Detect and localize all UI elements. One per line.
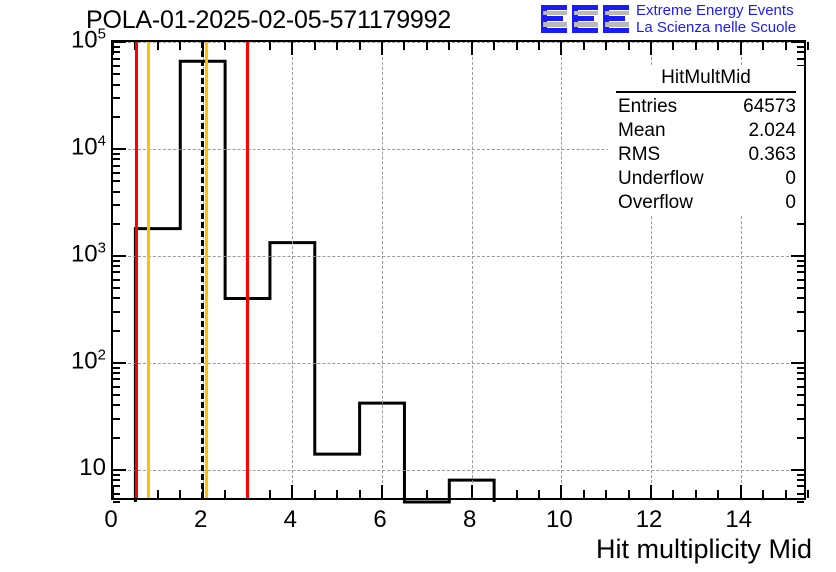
y-axis-minor-tick: [797, 386, 804, 388]
y-axis-minor-tick: [113, 97, 120, 99]
stats-row: Entries64573: [608, 95, 804, 119]
y-axis-minor-tick: [797, 279, 804, 281]
x-axis-minor-tick: [359, 42, 361, 50]
stats-row-key: Entries: [618, 96, 677, 118]
x-axis-tick: [112, 485, 114, 498]
x-axis-minor-tick: [807, 490, 809, 498]
x-axis-minor-tick: [426, 490, 428, 498]
x-axis-minor-tick: [448, 490, 450, 498]
y-axis-tick-label: 104: [71, 132, 106, 161]
x-axis-tick: [381, 42, 383, 55]
y-axis-minor-tick: [797, 404, 804, 406]
x-axis-minor-tick: [224, 490, 226, 498]
y-axis-minor-tick: [113, 271, 120, 273]
x-axis-minor-tick: [628, 490, 630, 498]
x-axis-minor-tick: [157, 42, 159, 50]
x-axis-minor-tick: [762, 42, 764, 50]
y-axis-minor-tick: [113, 265, 120, 267]
x-axis-minor-tick: [493, 42, 495, 50]
grid-line-horizontal: [113, 363, 804, 364]
y-axis-minor-tick: [113, 404, 120, 406]
x-axis-tick-label: 0: [104, 506, 117, 534]
y-axis-tick: [791, 469, 804, 471]
marker-line-orange-high: [205, 42, 208, 498]
y-axis-tick-label: 102: [71, 346, 106, 375]
stats-row-value: 2.024: [748, 120, 796, 142]
x-axis-minor-tick: [403, 490, 405, 498]
stats-row-key: RMS: [618, 144, 660, 166]
x-axis-tick: [291, 485, 293, 498]
y-axis-minor-tick: [797, 493, 804, 495]
x-axis-minor-tick: [224, 42, 226, 50]
x-axis-minor-tick: [605, 42, 607, 50]
y-axis-tick: [791, 362, 804, 364]
y-axis-minor-tick: [797, 265, 804, 267]
logo-line-2: La Scienza nelle Scuole: [636, 19, 796, 36]
stats-row: RMS0.363: [608, 143, 804, 167]
y-axis-tick: [113, 469, 126, 471]
marker-line-red-high: [246, 42, 249, 498]
stats-row: Mean2.024: [608, 119, 804, 143]
eee-logo-mark: [541, 4, 629, 34]
y-axis-minor-tick: [113, 485, 120, 487]
x-axis-tick: [650, 485, 652, 498]
y-axis-minor-tick: [797, 260, 804, 262]
y-axis-minor-tick: [113, 223, 120, 225]
x-axis-tick-label: 14: [725, 506, 752, 534]
y-axis-minor-tick: [797, 418, 804, 420]
y-axis-minor-tick: [797, 297, 804, 299]
marker-line-red-low: [135, 42, 138, 498]
plot-canvas: POLA-01-2025-02-05-571179992: [0, 0, 836, 572]
x-axis-minor-tick: [672, 42, 674, 50]
x-axis-minor-tick: [717, 42, 719, 50]
x-axis-tick: [740, 485, 742, 498]
y-axis-minor-tick: [113, 287, 120, 289]
grid-line-horizontal: [113, 256, 804, 257]
x-axis-minor-tick: [269, 42, 271, 50]
grid-line-vertical: [382, 42, 383, 498]
y-axis-minor-tick: [113, 153, 120, 155]
stats-row-key: Underflow: [618, 168, 704, 190]
y-axis-minor-tick: [113, 479, 120, 481]
y-axis-tick: [791, 41, 804, 43]
grid-line-vertical: [292, 42, 293, 498]
y-axis-minor-tick: [113, 279, 120, 281]
x-axis-tick: [740, 42, 742, 55]
stats-row-value: 0.363: [748, 144, 796, 166]
y-axis-minor-tick: [797, 330, 804, 332]
x-axis-title: Hit multiplicity Mid: [596, 534, 812, 565]
y-axis-tick-label: 103: [71, 239, 106, 268]
y-axis-minor-tick: [113, 260, 120, 262]
y-axis-minor-tick: [797, 51, 804, 53]
eee-logo: Extreme Energy Events La Scienza nelle S…: [541, 2, 833, 38]
x-axis-tick-label: 2: [194, 506, 207, 534]
y-axis-minor-tick: [113, 204, 120, 206]
y-axis-minor-tick: [113, 378, 120, 380]
y-axis-minor-tick: [797, 479, 804, 481]
y-axis-tick: [113, 362, 126, 364]
y-axis-minor-tick: [113, 73, 120, 75]
grid-line-vertical: [472, 42, 473, 498]
x-axis-minor-tick: [314, 490, 316, 498]
x-axis-minor-tick: [516, 490, 518, 498]
y-axis-minor-tick: [797, 394, 804, 396]
y-axis-minor-tick: [113, 165, 120, 167]
y-axis-minor-tick: [797, 378, 804, 380]
y-axis-minor-tick: [113, 493, 120, 495]
x-axis-minor-tick: [157, 490, 159, 498]
stats-row-key: Mean: [618, 120, 666, 142]
x-axis-minor-tick: [269, 490, 271, 498]
x-axis-minor-tick: [672, 490, 674, 498]
x-axis-minor-tick: [359, 490, 361, 498]
x-axis-tick-label: 6: [373, 506, 386, 534]
y-axis-minor-tick: [797, 474, 804, 476]
grid-line-horizontal: [113, 42, 804, 43]
x-axis-minor-tick: [807, 42, 809, 50]
x-axis-minor-tick: [628, 42, 630, 50]
y-axis-minor-tick: [113, 191, 120, 193]
x-axis-tick-label: 12: [636, 506, 663, 534]
x-axis-minor-tick: [605, 490, 607, 498]
x-axis-minor-tick: [426, 42, 428, 50]
y-axis-minor-tick: [113, 116, 120, 118]
stats-title: HitMultMid: [616, 66, 796, 93]
x-axis-minor-tick: [314, 42, 316, 50]
logo-line-1: Extreme Energy Events: [636, 2, 796, 19]
stats-row-key: Overflow: [618, 192, 693, 214]
x-axis-tick: [471, 485, 473, 498]
x-axis-tick: [560, 485, 562, 498]
x-axis-minor-tick: [785, 42, 787, 50]
x-axis-minor-tick: [448, 42, 450, 50]
x-axis-tick: [291, 42, 293, 55]
x-axis-tick-label: 10: [546, 506, 573, 534]
eee-logo-text: Extreme Energy Events La Scienza nelle S…: [636, 2, 796, 36]
histogram-outline: [135, 61, 494, 502]
grid-line-vertical: [561, 42, 562, 498]
x-axis-minor-tick: [695, 490, 697, 498]
y-axis-minor-tick: [113, 65, 120, 67]
x-axis-tick: [112, 42, 114, 55]
y-axis-minor-tick: [113, 51, 120, 53]
y-axis-tick: [113, 255, 126, 257]
x-axis-tick-label: 8: [463, 506, 476, 534]
y-axis-minor-tick: [797, 46, 804, 48]
y-axis-tick: [113, 148, 126, 150]
y-axis-tick: [113, 41, 126, 43]
x-axis-minor-tick: [583, 42, 585, 50]
y-axis-minor-tick: [797, 311, 804, 313]
x-axis-tick: [560, 42, 562, 55]
y-axis-minor-tick: [113, 418, 120, 420]
y-axis-minor-tick: [797, 501, 804, 503]
y-axis-minor-tick: [797, 58, 804, 60]
stats-row-value: 0: [785, 168, 796, 190]
y-axis-minor-tick: [113, 297, 120, 299]
y-axis-minor-tick: [797, 485, 804, 487]
x-axis-tick-label: 4: [284, 506, 297, 534]
x-axis-minor-tick: [516, 42, 518, 50]
stats-box: HitMultMid Entries64573Mean2.024RMS0.363…: [608, 66, 804, 215]
marker-line-mean-dashed: [201, 42, 204, 498]
x-axis-tick: [381, 485, 383, 498]
y-axis-minor-tick: [113, 394, 120, 396]
y-axis-minor-tick: [797, 367, 804, 369]
y-axis-tick-label: 10: [79, 454, 106, 482]
x-axis-minor-tick: [583, 490, 585, 498]
y-axis-tick-label: 105: [71, 26, 106, 55]
y-axis-minor-tick: [797, 271, 804, 273]
x-axis-tick: [471, 42, 473, 55]
y-axis-minor-tick: [113, 180, 120, 182]
marker-line-orange-low: [147, 42, 150, 498]
y-axis-minor-tick: [797, 287, 804, 289]
x-axis-minor-tick: [336, 490, 338, 498]
x-axis-minor-tick: [717, 490, 719, 498]
y-axis-minor-tick: [113, 58, 120, 60]
x-axis-minor-tick: [538, 42, 540, 50]
y-axis-labels: 10102103104105: [0, 0, 106, 572]
x-axis-minor-tick: [493, 490, 495, 498]
stats-row-value: 64573: [743, 96, 796, 118]
y-axis-minor-tick: [113, 437, 120, 439]
y-axis-minor-tick: [113, 172, 120, 174]
y-axis-minor-tick: [797, 223, 804, 225]
y-axis-minor-tick: [797, 437, 804, 439]
x-axis-minor-tick: [179, 490, 181, 498]
y-axis-minor-tick: [113, 501, 120, 503]
x-axis-tick: [650, 42, 652, 55]
stats-row: Underflow0: [608, 167, 804, 191]
stats-row: Overflow0: [608, 191, 804, 215]
grid-line-horizontal: [113, 470, 804, 471]
y-axis-minor-tick: [113, 474, 120, 476]
y-axis-minor-tick: [113, 372, 120, 374]
x-axis-minor-tick: [403, 42, 405, 50]
page-title: POLA-01-2025-02-05-571179992: [86, 6, 451, 35]
y-axis-minor-tick: [113, 46, 120, 48]
y-axis-minor-tick: [113, 330, 120, 332]
x-axis-minor-tick: [538, 490, 540, 498]
y-axis-minor-tick: [113, 367, 120, 369]
y-axis-minor-tick: [113, 386, 120, 388]
stats-row-value: 0: [785, 192, 796, 214]
stats-rows: Entries64573Mean2.024RMS0.363Underflow0O…: [608, 95, 804, 215]
x-axis-minor-tick: [762, 490, 764, 498]
y-axis-minor-tick: [113, 311, 120, 313]
y-axis-minor-tick: [113, 84, 120, 86]
y-axis-minor-tick: [113, 158, 120, 160]
y-axis-tick: [791, 255, 804, 257]
x-axis-minor-tick: [695, 42, 697, 50]
x-axis-minor-tick: [179, 42, 181, 50]
y-axis-minor-tick: [797, 372, 804, 374]
x-axis-minor-tick: [336, 42, 338, 50]
x-axis-minor-tick: [785, 490, 787, 498]
